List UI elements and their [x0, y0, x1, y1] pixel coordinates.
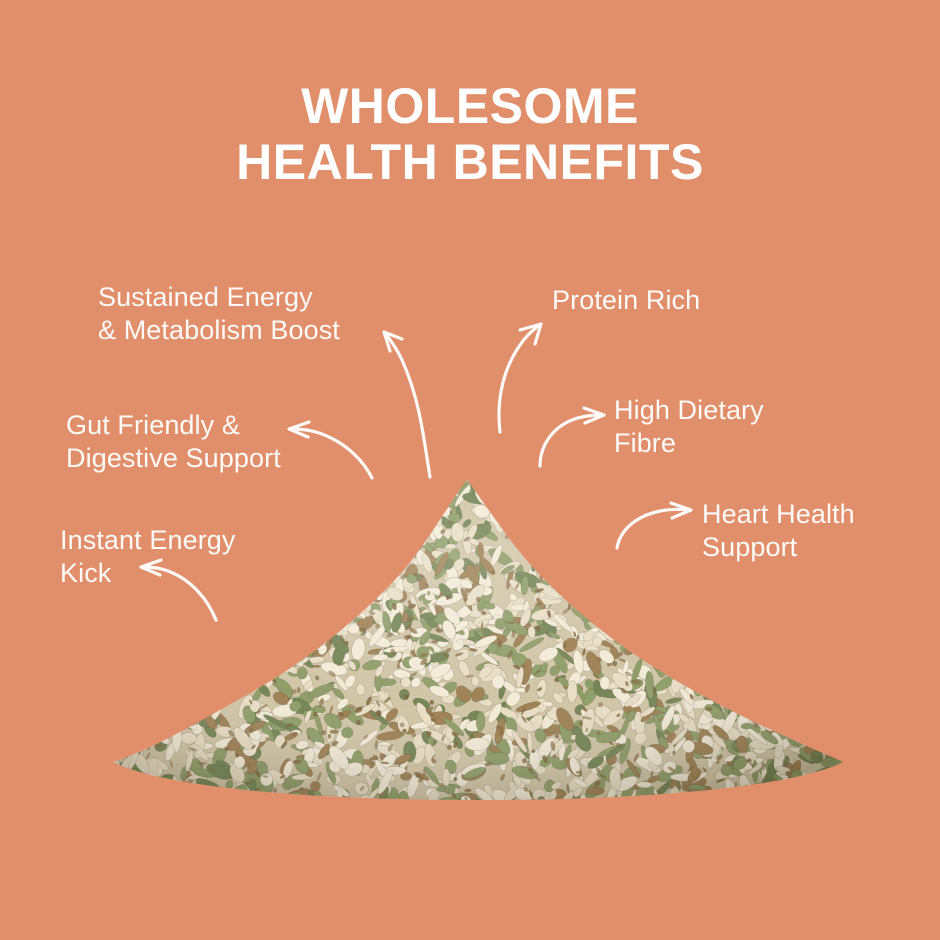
- title-line-2: HEALTH BENEFITS: [0, 134, 940, 190]
- infographic-canvas: WHOLESOME HEALTH BENEFITS: [0, 0, 940, 940]
- callout-label-sustained-energy: Sustained Energy & Metabolism Boost: [98, 281, 398, 347]
- callout-label-gut-friendly: Gut Friendly & Digestive Support: [66, 409, 336, 475]
- callout-label-heart-health: Heart Health Support: [702, 498, 922, 564]
- arrow-sustained-energy: [384, 332, 430, 477]
- callout-label-high-fibre: High Dietary Fibre: [614, 394, 814, 460]
- arrow-protein-rich: [499, 324, 541, 432]
- callout-label-instant-energy: Instant Energy Kick: [60, 524, 290, 590]
- title-line-1: WHOLESOME: [0, 78, 940, 134]
- callout-label-protein-rich: Protein Rich: [552, 284, 772, 317]
- arrow-high-fibre: [540, 408, 604, 466]
- page-title: WHOLESOME HEALTH BENEFITS: [0, 78, 940, 190]
